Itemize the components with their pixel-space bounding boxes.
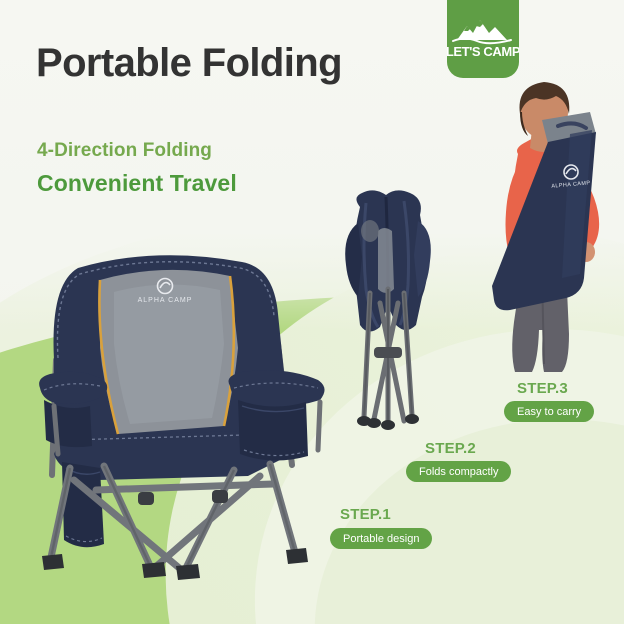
step-2-title: STEP.2 [425, 440, 476, 457]
subtitle-line-2: Convenient Travel [37, 170, 237, 197]
frame-clamp [374, 347, 402, 358]
brand-logo-text: LET'S CAMP [447, 44, 519, 59]
page-title: Portable Folding [36, 43, 342, 83]
armrest-right [229, 370, 325, 406]
product-infographic: Portable Folding 4-Direction Folding Con… [0, 0, 624, 624]
photo-open-chair: ALPHA CAMP [34, 240, 344, 580]
step-3-caption-pill: Easy to carry [504, 401, 594, 422]
cup-holder-ring [361, 220, 379, 242]
step-1-caption-pill: Portable design [330, 528, 432, 549]
photo-person-carrying-chair-bag: ALPHA CAMP [470, 72, 620, 382]
step-1-title: STEP.1 [340, 506, 391, 523]
brand-logo-badge: LET'S CAMP [447, 0, 519, 78]
chair-brand-text: ALPHA CAMP [138, 297, 193, 304]
subtitle-line-1: 4-Direction Folding [37, 140, 212, 162]
mountain-icon: LET'S CAMP [447, 0, 519, 78]
photo-folded-chair [330, 185, 455, 440]
step-2-caption-pill: Folds compactly [406, 461, 511, 482]
step-3-title: STEP.3 [517, 380, 568, 397]
